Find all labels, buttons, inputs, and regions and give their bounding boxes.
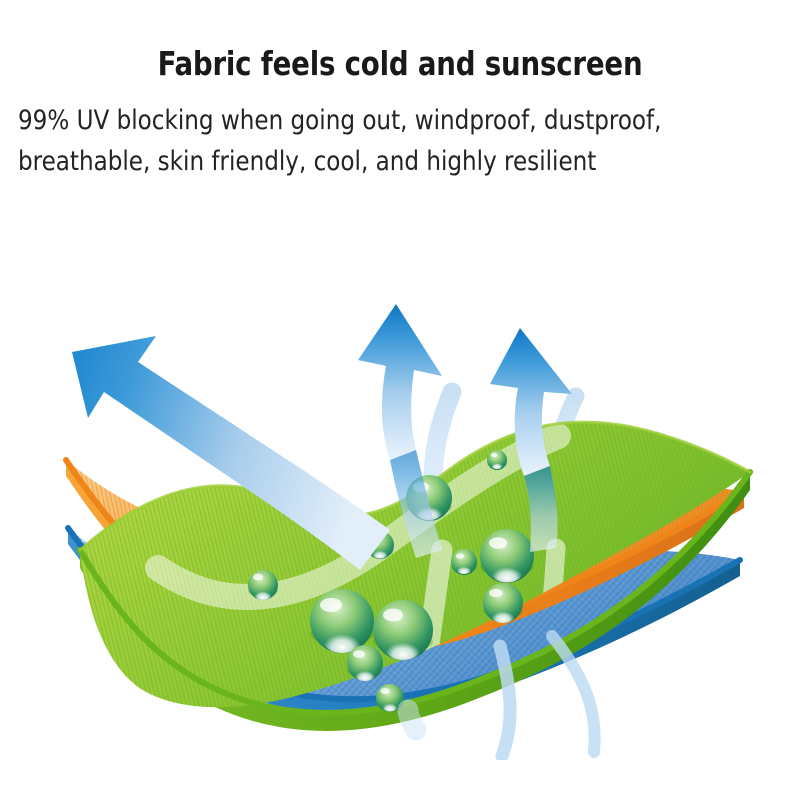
text-block: Fabric feels cold and sunscreen 99% UV b… [0, 0, 800, 182]
arrow-center-tail-lower [500, 646, 510, 756]
droplet [248, 570, 278, 600]
droplet [451, 549, 477, 575]
page-title: Fabric feels cold and sunscreen [28, 0, 772, 84]
page-subtitle-line-1: 99% UV blocking when going out, windproo… [18, 100, 750, 141]
fabric-layers-illustration [60, 300, 760, 760]
fabric-layers-svg [60, 300, 760, 760]
droplet [483, 583, 523, 623]
droplet [373, 600, 433, 660]
infographic-page: Fabric feels cold and sunscreen 99% UV b… [0, 0, 800, 800]
droplet [347, 645, 383, 681]
page-subtitle-line-2: breathable, skin friendly, cool, and hig… [18, 141, 750, 182]
arrow-center-tail-stub [408, 710, 416, 730]
droplet [310, 589, 374, 653]
page-subtitle: 99% UV blocking when going out, windproo… [0, 84, 800, 182]
droplet [480, 529, 534, 583]
droplet [487, 450, 507, 470]
